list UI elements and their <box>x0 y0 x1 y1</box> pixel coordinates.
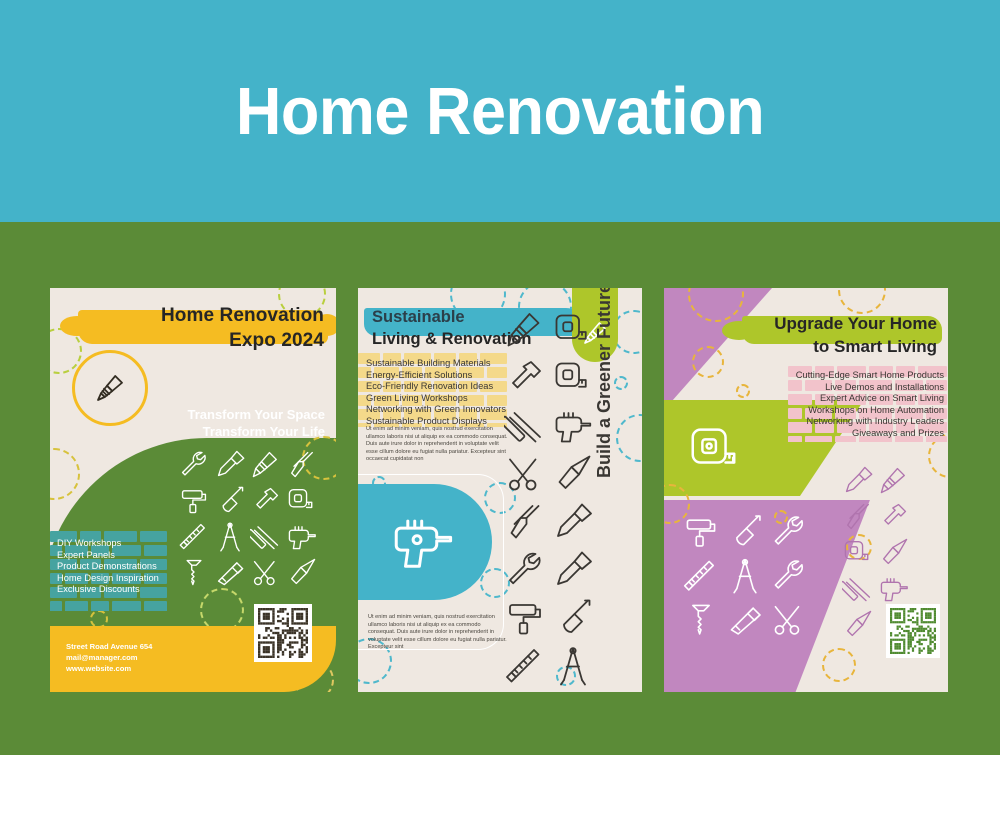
screwdriver-icon <box>552 500 594 542</box>
trowel-icon-cell <box>878 536 910 568</box>
drill-icon-cell <box>552 404 594 446</box>
drill-feature-panel <box>358 484 492 600</box>
qr-code-1[interactable] <box>254 604 312 662</box>
list-item: DIY Workshops <box>57 538 187 550</box>
paintbrush-icon-cell <box>504 308 546 350</box>
contact-address: Street Road Avenue 654 <box>66 641 216 652</box>
qr-code-graphic <box>258 608 308 658</box>
trowel-icon <box>552 452 594 494</box>
poster-card-1[interactable]: Home Renovation Expo 2024 Transform Your… <box>50 288 336 692</box>
brick-row <box>50 601 170 611</box>
compass-icon <box>214 520 246 552</box>
scissors-icon <box>504 452 546 494</box>
list-item: Eco-Friendly Renovation Ideas <box>366 381 526 393</box>
pliers-icon <box>504 500 546 542</box>
poster-2-tool-icon-grid <box>504 308 604 692</box>
hammer-icon-cell <box>504 356 546 398</box>
poster-2-body-text-bottom: Ut enim ad minim veniam, quis nostrud ex… <box>368 614 508 652</box>
drill-icon <box>552 404 594 446</box>
poster-3-title-block: Upgrade Your Home to Smart Living <box>742 312 937 358</box>
poster-1-contact-block: Street Road Avenue 654 mail@manager.com … <box>66 641 216 674</box>
ruler-pencil-icon-cell <box>504 404 546 446</box>
trowel-icon-cell <box>552 452 594 494</box>
compass-icon-cell <box>552 644 594 686</box>
ruler-pencil-icon-cell <box>250 520 282 552</box>
list-item: Green Living Workshops <box>366 393 526 405</box>
screw-icon <box>682 600 720 638</box>
tape-measure-icon-cell <box>842 536 874 568</box>
poster-card-3[interactable]: Upgrade Your Home to Smart Living Cuttin… <box>664 288 948 692</box>
screw-icon-cell <box>682 600 720 638</box>
contact-website: www.website.com <box>66 663 216 674</box>
hammer-icon <box>878 500 910 532</box>
ruler-pencil-icon-cell <box>842 572 874 604</box>
cutter-icon <box>726 600 764 638</box>
poster-title-line-1: Upgrade Your Home <box>742 312 937 335</box>
wrench-icon-cell <box>770 556 808 594</box>
shovel-icon <box>214 484 246 516</box>
list-item: Product Demonstrations <box>57 561 187 573</box>
drill-icon <box>387 505 461 579</box>
wrench-icon <box>178 448 210 480</box>
list-item: Home Design Inspiration <box>57 573 187 585</box>
paintbrush-icon-cell <box>878 464 910 496</box>
wrench-icon-cell <box>178 448 210 480</box>
wrench-icon <box>770 512 808 550</box>
compass-icon <box>552 644 594 686</box>
screwdriver-icon-cell <box>842 464 874 496</box>
drill-icon-cell <box>878 572 910 604</box>
saw-icon <box>178 520 210 552</box>
list-item: Networking with Industry Leaders <box>780 416 944 428</box>
poster-2-feature-list: Sustainable Building Materials Energy-Ef… <box>366 358 526 427</box>
drill-icon <box>878 572 910 604</box>
tape-measure-icon-cell <box>552 356 594 398</box>
screw-icon <box>178 556 210 588</box>
screwdriver-icon <box>842 464 874 496</box>
drill-icon <box>286 520 318 552</box>
roller-icon <box>504 596 546 638</box>
shovel-icon <box>726 512 764 550</box>
saw-icon-cell <box>178 520 210 552</box>
tape-measure-icon <box>286 484 318 516</box>
tape-measure-icon-cell <box>552 308 594 350</box>
saw-icon-cell <box>682 556 720 594</box>
poster-2-body-text-top: Ut enim ad minim veniam, quis nostrud ex… <box>366 426 510 464</box>
list-item: Expert Panels <box>57 550 187 562</box>
qr-code-3[interactable] <box>886 604 940 658</box>
paintbrush-icon <box>504 308 546 350</box>
hammer-icon <box>250 484 282 516</box>
list-item: Expert Advice on Smart Living <box>780 393 944 405</box>
screwdriver-icon <box>552 548 594 590</box>
dashed-ring-decor <box>822 648 856 682</box>
poster-1-feature-list: DIY Workshops Expert Panels Product Demo… <box>57 538 187 596</box>
tape-measure-icon <box>686 421 740 475</box>
trowel-icon <box>842 608 874 640</box>
screwdriver-icon-cell <box>552 548 594 590</box>
pliers-icon <box>286 448 318 480</box>
list-item: Live Demos and Installations <box>780 382 944 394</box>
pliers-icon <box>842 500 874 532</box>
page-title: Home Renovation <box>236 73 764 150</box>
tape-measure-icon <box>552 308 594 350</box>
hammer-icon <box>504 356 546 398</box>
pliers-icon-cell <box>842 500 874 532</box>
dashed-ring-decor <box>50 448 80 500</box>
scissors-icon <box>250 556 282 588</box>
list-item: Networking with Green Innovators <box>366 404 526 416</box>
trowel-icon <box>286 556 318 588</box>
trowel-icon-cell <box>842 608 874 640</box>
hammer-icon-cell <box>878 500 910 532</box>
trowel-icon <box>878 536 910 568</box>
tape-measure-icon <box>552 356 594 398</box>
wrench-icon-cell <box>504 548 546 590</box>
poster-1-tagline: Transform Your Space Transform Your Life <box>150 406 325 440</box>
poster-3-tool-icon-grid-left <box>682 512 828 638</box>
saw-icon <box>682 556 720 594</box>
shovel-icon-cell <box>214 484 246 516</box>
shovel-icon-cell <box>552 596 594 638</box>
list-item: Cutting-Edge Smart Home Products <box>780 370 944 382</box>
list-item: Exclusive Discounts <box>57 584 187 596</box>
scissors-icon-cell <box>770 600 808 638</box>
tagline-line-2: Transform Your Life <box>150 423 325 440</box>
paintbrush-icon <box>250 448 282 480</box>
dashed-ring-decor <box>616 414 642 462</box>
poster-3-feature-list: Cutting-Edge Smart Home Products Live De… <box>780 370 944 439</box>
poster-title-line-1: Home Renovation <box>92 303 324 328</box>
contact-email: mail@manager.com <box>66 652 216 663</box>
screwdriver-icon-cell <box>214 448 246 480</box>
roller-icon-cell <box>178 484 210 516</box>
wrench-icon-cell <box>770 512 808 550</box>
compass-icon-cell <box>214 520 246 552</box>
list-item: Energy-Efficient Solutions <box>366 370 526 382</box>
paintbrush-icon-cell <box>250 448 282 480</box>
qr-code-graphic <box>890 608 936 654</box>
ruler-pencil-icon <box>504 404 546 446</box>
poster-title-line-2: to Smart Living <box>742 335 937 358</box>
screwdriver-icon <box>214 448 246 480</box>
roller-icon-cell <box>504 596 546 638</box>
dashed-ring-decor <box>692 346 724 378</box>
shovel-icon-cell <box>726 512 764 550</box>
list-item: Sustainable Building Materials <box>366 358 526 370</box>
cutter-icon-cell <box>214 556 246 588</box>
scissors-icon-cell <box>250 556 282 588</box>
drill-icon-cell <box>286 520 318 552</box>
compass-icon-cell <box>726 556 764 594</box>
tape-measure-icon <box>842 536 874 568</box>
dashed-ring-decor <box>736 384 750 398</box>
compass-icon <box>726 556 764 594</box>
header-banner: Home Renovation <box>0 0 1000 222</box>
poster-title-line-2: Expo 2024 <box>92 328 324 353</box>
pliers-icon-cell <box>504 500 546 542</box>
flyer-preview-canvas: Home Renovation Home Renovation Expo 202… <box>0 0 1000 833</box>
trowel-icon-cell <box>286 556 318 588</box>
ruler-pencil-icon <box>842 572 874 604</box>
pliers-icon-cell <box>286 448 318 480</box>
cutter-icon <box>214 556 246 588</box>
roller-icon-cell <box>682 512 720 550</box>
paintbrush-icon <box>878 464 910 496</box>
tagline-line-1: Transform Your Space <box>150 406 325 423</box>
list-item: Workshops on Home Automation <box>780 405 944 417</box>
scissors-icon <box>770 600 808 638</box>
roller-icon <box>178 484 210 516</box>
saw-icon <box>504 644 546 686</box>
shovel-icon <box>552 596 594 638</box>
wrench-icon <box>770 556 808 594</box>
saw-icon-cell <box>504 644 546 686</box>
roller-icon <box>682 512 720 550</box>
cutter-icon-cell <box>726 600 764 638</box>
poster-1-tool-icon-grid <box>178 448 330 588</box>
list-item: Giveaways and Prizes <box>780 428 944 440</box>
screw-icon-cell <box>178 556 210 588</box>
paintbrush-icon <box>92 370 128 406</box>
dashed-ring-decor <box>614 376 628 390</box>
poster-card-2[interactable]: Sustainable Living & Renovation Sustaina… <box>358 288 642 692</box>
paintbrush-badge <box>72 350 148 426</box>
screwdriver-icon-cell <box>552 500 594 542</box>
scissors-icon-cell <box>504 452 546 494</box>
ruler-pencil-icon <box>250 520 282 552</box>
wrench-icon <box>504 548 546 590</box>
hammer-icon-cell <box>250 484 282 516</box>
tape-measure-icon-cell <box>286 484 318 516</box>
dashed-ring-decor <box>838 288 886 314</box>
